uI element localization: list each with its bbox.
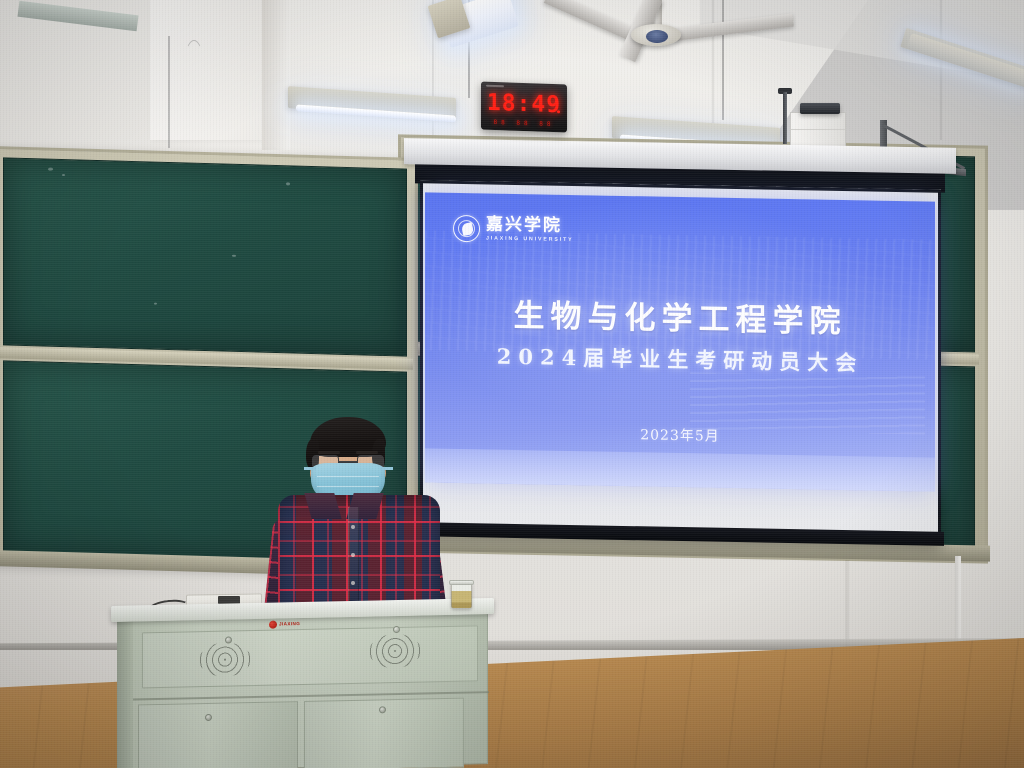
- lectern-door-lock-left: [205, 714, 212, 721]
- projected-slide: 嘉兴学院 JIAXING UNIVERSITY 生物与化学工程学院 2024届毕…: [425, 192, 935, 491]
- hanging-cable-loop: [182, 40, 206, 118]
- lecture-hall-photo: 18:49 88 88 88: [0, 0, 1024, 768]
- slide-subtitle: 2024届毕业生考研动员大会: [425, 339, 935, 378]
- tea-jar-lid: [449, 580, 474, 585]
- shirt-button-1: [351, 525, 355, 529]
- ceiling-projector: [800, 103, 840, 114]
- slide-date: 2023年5月: [425, 420, 935, 449]
- wall-digital-clock: 18:49 88 88 88: [481, 81, 567, 132]
- speaker-brow-left: [318, 451, 340, 454]
- wall-seam-c: [940, 0, 942, 140]
- university-name-en: JIAXING UNIVERSITY: [486, 236, 574, 243]
- cabinet-seam: [791, 129, 845, 130]
- speaker-brow-right: [356, 451, 378, 454]
- lectern-door-right: [304, 698, 464, 768]
- lectern-door-lock-right: [379, 706, 386, 713]
- mask-strap-right: [381, 467, 393, 470]
- projector-mount-arm: [783, 92, 787, 144]
- hanging-cable-left: [168, 36, 170, 148]
- tea-jar: [451, 583, 472, 609]
- lectern-body: JIAXING: [117, 610, 488, 768]
- wall-soffit-column: [262, 0, 290, 150]
- lectern-brand-logo: JIAXING: [269, 619, 311, 629]
- university-emblem-icon: [453, 215, 480, 242]
- fan-motor-cap: [646, 30, 668, 43]
- university-name-cn: 嘉兴学院: [486, 216, 574, 235]
- lectern-brand-text: JIAXING: [279, 621, 300, 626]
- speaker-grille-left: [199, 642, 251, 677]
- university-logo: 嘉兴学院 JIAXING UNIVERSITY: [453, 215, 574, 244]
- chalkboard-panel-top-left: [3, 157, 407, 356]
- clock-indicator-dot: [557, 110, 560, 113]
- shirt-button-2: [351, 553, 355, 557]
- lectern-lock-right: [393, 626, 400, 633]
- shirt-button-3: [351, 581, 355, 585]
- light-hanger-rod-2: [722, 0, 724, 120]
- slide-title: 生物与化学工程学院: [425, 288, 935, 342]
- lectern-logo-icon: [269, 620, 277, 628]
- clock-secondary-display: 88 88 88: [481, 118, 567, 128]
- lectern-door-left: [138, 701, 298, 768]
- university-logo-text: 嘉兴学院 JIAXING UNIVERSITY: [486, 216, 574, 243]
- lectern: JIAXING: [117, 612, 488, 768]
- lectern-left-side: [117, 614, 133, 768]
- speaker-grille-right: [369, 634, 421, 669]
- lectern-front-panel: [142, 625, 478, 688]
- mask-strap-left: [304, 467, 316, 470]
- clock-brand-mark: [486, 85, 504, 88]
- clock-time-display: 18:49: [481, 89, 567, 118]
- speaker: [262, 415, 452, 625]
